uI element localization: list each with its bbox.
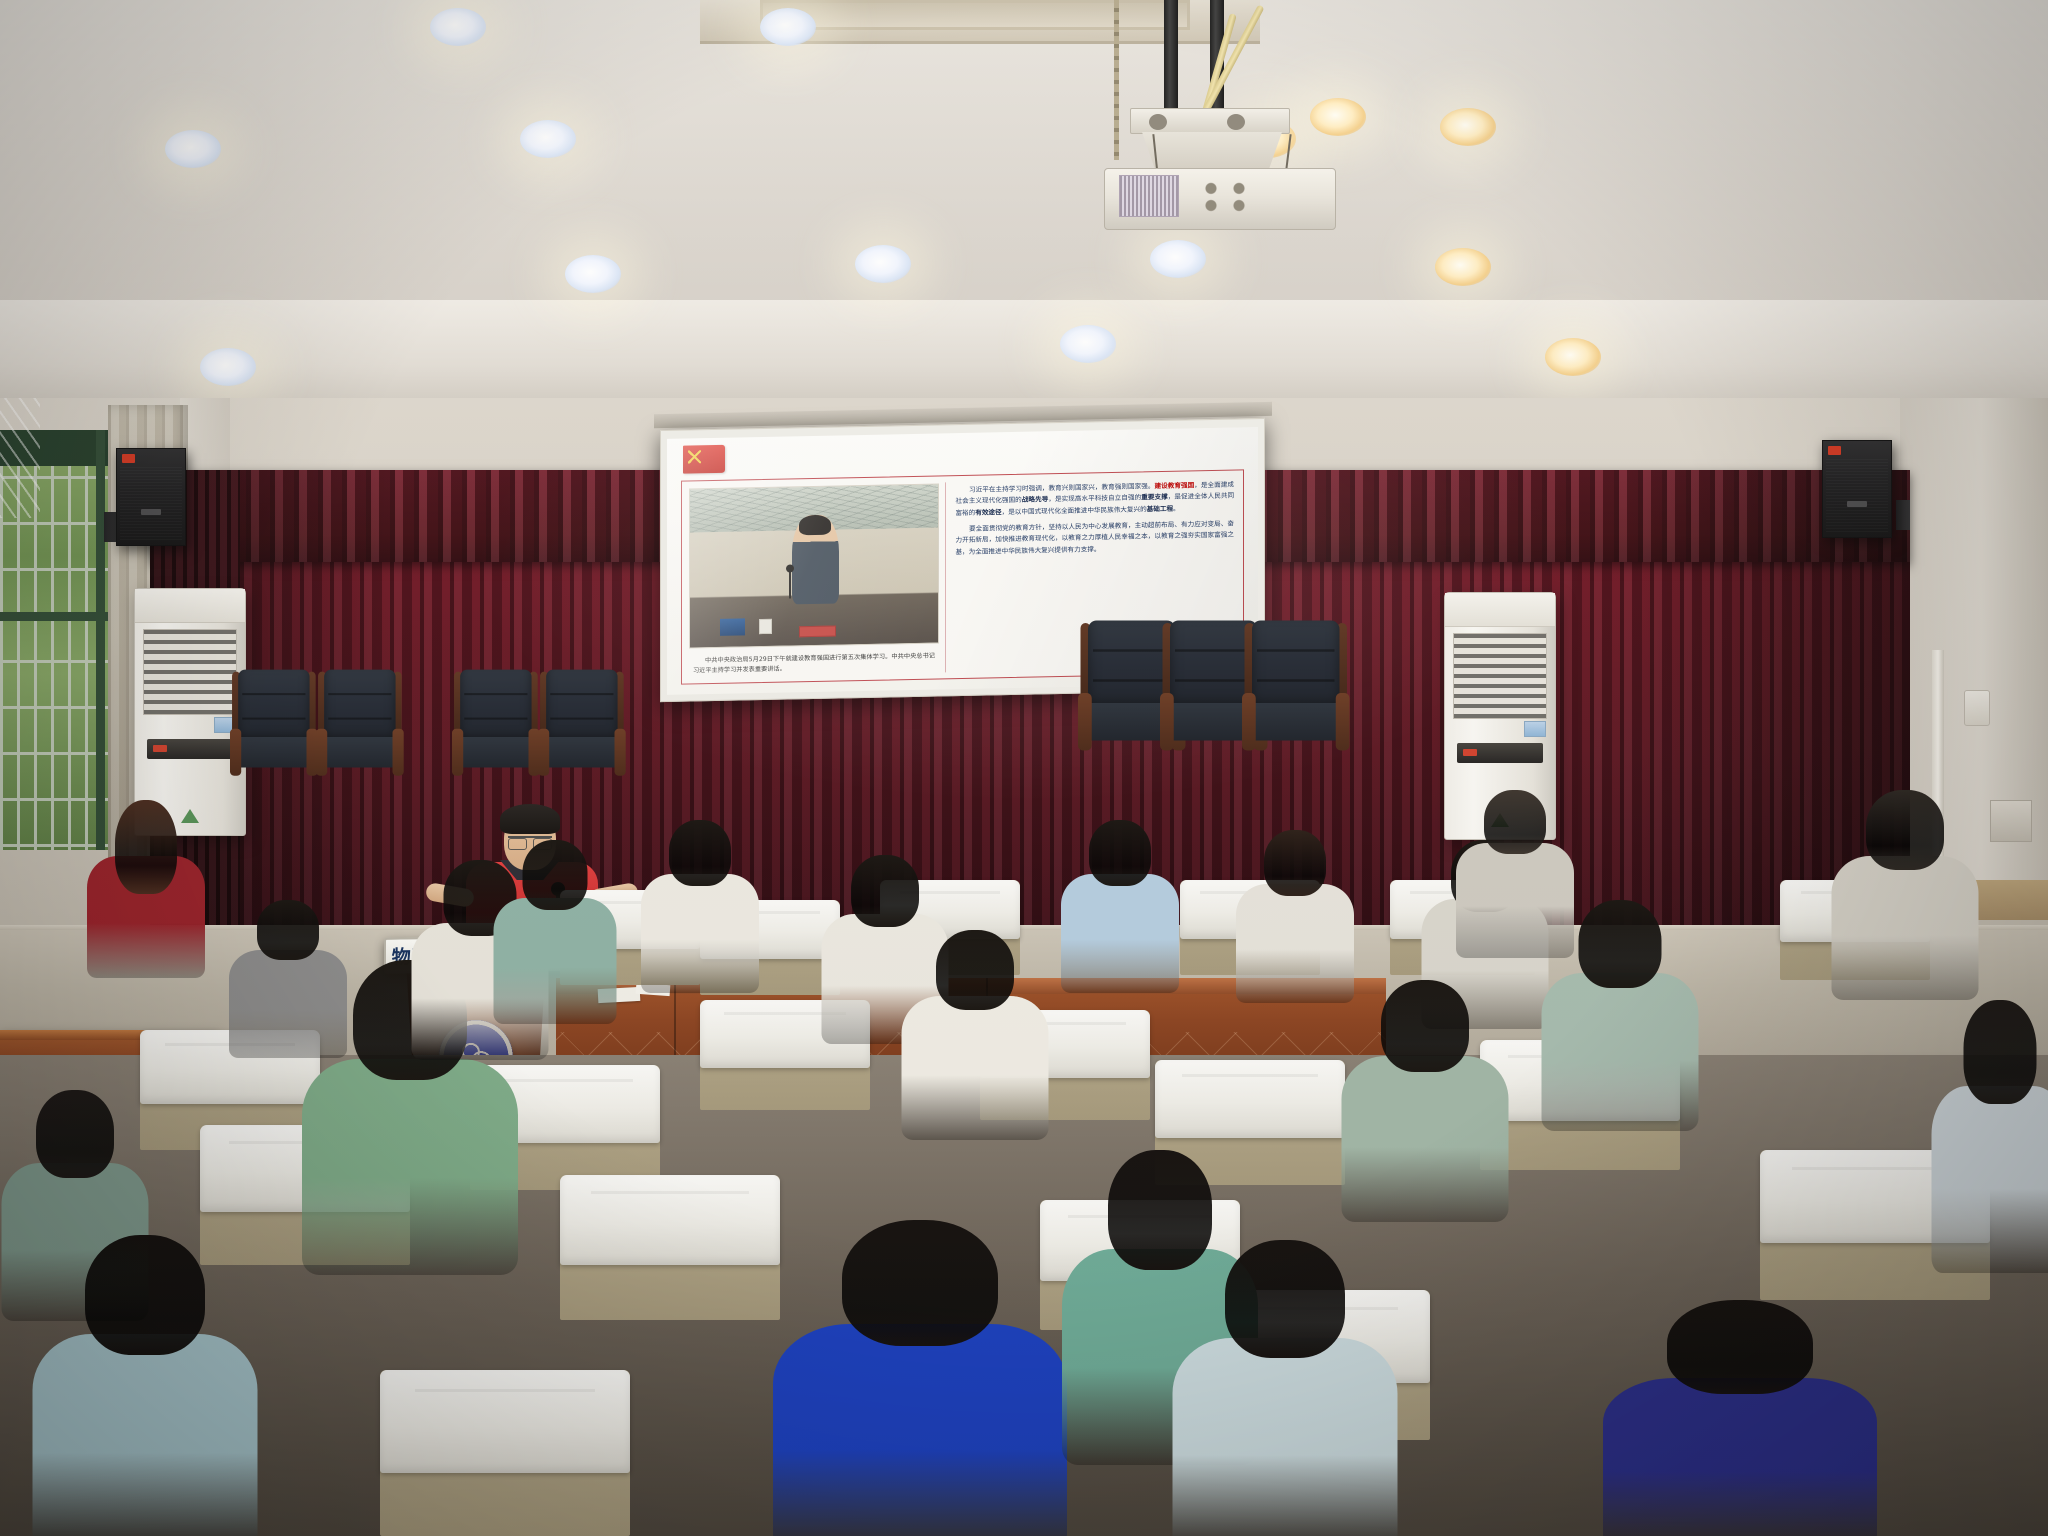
person-head	[669, 820, 731, 886]
speaker-grille	[120, 467, 182, 541]
mount-hole-left	[1149, 114, 1167, 130]
ceiling-downlight	[1440, 108, 1496, 146]
person-bottom-right	[1600, 1300, 1880, 1536]
chair-backrest	[238, 670, 309, 743]
speaker-brand-plate	[1847, 501, 1867, 507]
person-head	[1225, 1240, 1345, 1358]
person-torso	[1542, 973, 1699, 1131]
ceiling-downlight	[1060, 325, 1116, 363]
chair-armrest-left	[1160, 693, 1174, 751]
stage-armchair	[316, 670, 404, 790]
presenter-hair	[500, 804, 560, 834]
slide-photo-caption: 中共中央政治局5月29日下午就建设教育强国进行第五次集体学习。中共中央总书记习近…	[689, 649, 939, 680]
person-head	[936, 930, 1014, 1010]
ceiling-downlight	[200, 348, 256, 386]
ceiling-downlight	[855, 245, 911, 283]
person-head	[257, 900, 319, 960]
ac-energy-label	[1524, 721, 1546, 737]
person-glasses-right	[1170, 1240, 1400, 1536]
person-white-shirt-d	[900, 930, 1050, 1130]
person-head	[522, 840, 587, 910]
ceiling-downlight	[1150, 240, 1206, 278]
slide-p1-highlight-1: 建设教育强国	[1155, 481, 1195, 490]
person-head	[1264, 830, 1326, 896]
person-torso	[493, 898, 616, 1024]
person-head	[1667, 1300, 1813, 1394]
slide-p1-run3: ，是实现高水平科技自立自强的	[1048, 494, 1141, 504]
stage-armchair	[1242, 621, 1350, 769]
person-torso	[302, 1059, 518, 1275]
slide-p1-highlight-3: 重要支撑	[1141, 493, 1168, 502]
person-teal-a	[492, 840, 617, 1015]
chair-seat	[541, 737, 623, 768]
chair-armrest-left	[1242, 693, 1256, 751]
slide-p1-run5: ，是以中国式现代化全面推进中华民族伟大复兴的	[1002, 505, 1147, 516]
person-torso	[902, 996, 1049, 1140]
person-head	[851, 855, 919, 927]
ac-vent-grille	[1453, 633, 1547, 719]
projector-mount-plate	[1130, 108, 1290, 134]
chair-seat	[455, 737, 537, 768]
person-head	[1964, 1000, 2037, 1104]
person-head	[1579, 900, 1662, 988]
ceiling-downlight	[1545, 338, 1601, 376]
speaker-brand-logo-icon	[122, 454, 135, 463]
slide-photo	[689, 483, 939, 648]
exterior-scaffold	[0, 398, 40, 518]
speaker-brand-logo-icon	[1828, 446, 1841, 455]
ceiling-downlight	[165, 130, 221, 168]
photo-nameplate	[799, 626, 836, 638]
speaker-grille	[1826, 459, 1888, 533]
seat-headrest-cover	[1155, 1060, 1345, 1138]
chair-backrest	[546, 670, 617, 743]
speaker-right-mount	[1896, 500, 1910, 530]
person-right-d	[1340, 980, 1510, 1210]
person-head	[842, 1220, 998, 1346]
chair-backrest	[460, 670, 531, 743]
projector-chain	[1114, 0, 1119, 160]
jbl-loudspeaker-left	[116, 448, 186, 546]
person-head	[115, 800, 177, 894]
person-head	[1089, 820, 1151, 886]
chair-armrest-left	[538, 729, 549, 776]
chair-backrest	[324, 670, 395, 743]
projector-body	[1104, 168, 1336, 230]
person-torso	[1832, 856, 1979, 1000]
woman-red-dress	[86, 800, 206, 970]
chair-backrest	[1252, 621, 1340, 711]
person-white-shirt-b	[640, 820, 760, 985]
person-head	[36, 1090, 114, 1178]
chair-armrest-left	[452, 729, 463, 776]
window-frame-vertical	[96, 430, 105, 850]
slide-paragraph-1: 习近平在主持学习时强调，教育兴则国家兴，教育强则国家强。建设教育强国，是全面建成…	[955, 480, 1234, 520]
ceiling-downlight	[1435, 248, 1491, 286]
person-far-right	[1830, 790, 1980, 990]
slide-p1-highlight-2: 战略先导	[1022, 496, 1049, 505]
seat-headrest-cover	[380, 1370, 630, 1473]
slide-p1-run6: 。	[1173, 504, 1180, 512]
ceiling-soffit	[0, 300, 2048, 410]
projector-vent-icon	[1119, 175, 1179, 217]
slide-p1-highlight-5: 基础工程	[1147, 504, 1173, 513]
person-torso	[1932, 1086, 2048, 1273]
ceiling-downlight	[760, 8, 816, 46]
photo-teacup	[759, 619, 771, 633]
chair-armrest-right	[1336, 693, 1350, 751]
stage-armchair	[452, 670, 540, 790]
chair-seat	[1246, 703, 1346, 741]
person-torso	[1603, 1378, 1877, 1536]
person-head	[1381, 980, 1469, 1072]
ac-vent-grille	[143, 629, 237, 715]
wall-outlet	[1964, 690, 1990, 726]
wall-panel-right	[1990, 800, 2032, 842]
person-light-blue	[1060, 820, 1180, 985]
ac-top-panel	[135, 589, 245, 623]
person-head	[1866, 790, 1944, 870]
slide-p1-run1: 习近平在主持学习时强调，教育兴则国家兴，教育强则国家强。	[969, 482, 1155, 494]
ceiling-downlight	[430, 8, 486, 46]
slide-paragraph-2: 要全面贯彻党的教育方针，坚持以人民为中心发展教育，主动超前布局、有力应对变局、奋…	[955, 519, 1234, 559]
window-mullion-horizontal	[0, 612, 108, 621]
person-phone-user	[30, 1235, 260, 1535]
chair-seat	[233, 737, 315, 768]
ceiling-projector	[1090, 0, 1350, 230]
ac-display-panel	[147, 739, 233, 759]
person-torso	[641, 874, 759, 993]
person-head	[1484, 790, 1546, 854]
photo-microphone-icon	[789, 570, 791, 598]
chinese-communist-party-flag-icon	[683, 445, 725, 474]
projector-rod-left	[1164, 0, 1178, 112]
stage-armchair	[230, 670, 318, 790]
person-blue-shirt	[770, 1220, 1070, 1536]
mount-hole-right	[1227, 114, 1245, 130]
chair-seat	[319, 737, 401, 768]
projector-ports	[1195, 177, 1275, 215]
chair-armrest-left	[230, 729, 241, 776]
person-corner-right	[1930, 1000, 2048, 1260]
photo-emblem	[720, 618, 745, 636]
person-torso	[1061, 874, 1179, 993]
jbl-loudspeaker-right	[1822, 440, 1892, 538]
seat-headrest-cover	[560, 1175, 780, 1265]
person-right-c	[1540, 900, 1700, 1120]
ac-display-panel	[1457, 743, 1543, 763]
chair-armrest-right	[393, 729, 404, 776]
person-torso	[1342, 1056, 1509, 1222]
person-torso	[773, 1324, 1067, 1536]
audience-seat	[380, 1370, 630, 1536]
person-bun-hair	[1235, 830, 1355, 995]
slide-left-column: 中共中央政治局5月29日下午就建设教育强国进行第五次集体学习。中共中央总书记习近…	[682, 476, 945, 683]
person-torso	[1173, 1338, 1398, 1536]
person-torso	[33, 1334, 258, 1536]
chair-armrest-left	[1078, 693, 1092, 751]
stage-armchair	[538, 670, 626, 790]
chair-armrest-left	[316, 729, 327, 776]
person-torso	[1236, 884, 1354, 1003]
audience-seat	[560, 1175, 780, 1320]
ac-top-panel	[1445, 593, 1555, 627]
photo-speaker-figure	[792, 515, 839, 605]
speaker-brand-plate	[141, 509, 161, 515]
conference-hall-photo: 中共中央政治局5月29日下午就建设教育强国进行第五次集体学习。中共中央总书记习近…	[0, 0, 2048, 1536]
slide-p1-highlight-4: 有效途径	[975, 508, 1001, 517]
ceiling-downlight	[520, 120, 576, 158]
ceiling-downlight	[565, 255, 621, 293]
person-head	[85, 1235, 205, 1355]
chair-armrest-right	[615, 729, 626, 776]
